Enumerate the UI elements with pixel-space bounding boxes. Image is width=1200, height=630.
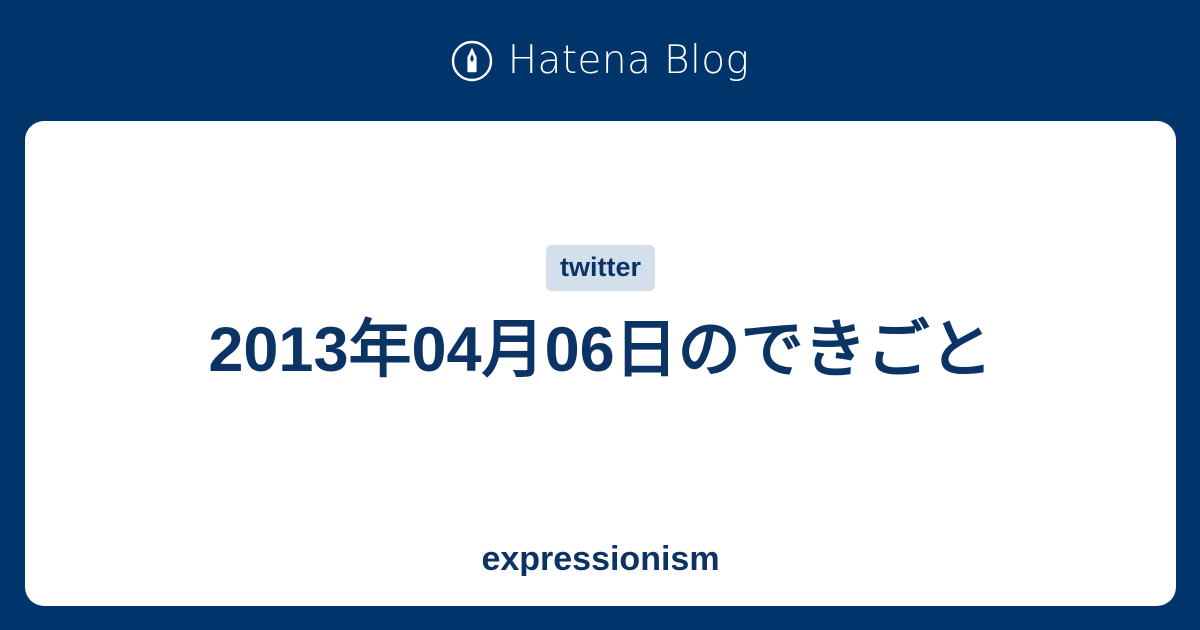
category-badge-twitter[interactable]: twitter (546, 245, 655, 291)
category-row: twitter (65, 245, 1136, 291)
blog-title[interactable]: expressionism (481, 542, 719, 576)
entry-card-body: twitter 2013年04月06日のできごと (25, 121, 1176, 511)
entry-card-footer: expressionism (25, 511, 1176, 606)
entry-title: 2013年04月06日のできごと (208, 313, 992, 387)
pen-nib-circle-icon (451, 40, 493, 82)
brand-header: Hatena Blog (0, 0, 1200, 121)
entry-card: twitter 2013年04月06日のできごと expressionism (25, 121, 1176, 606)
hatena-blog-og-card: Hatena Blog twitter 2013年04月06日のできごと exp… (0, 0, 1200, 630)
brand-name: Hatena Blog (508, 41, 750, 80)
